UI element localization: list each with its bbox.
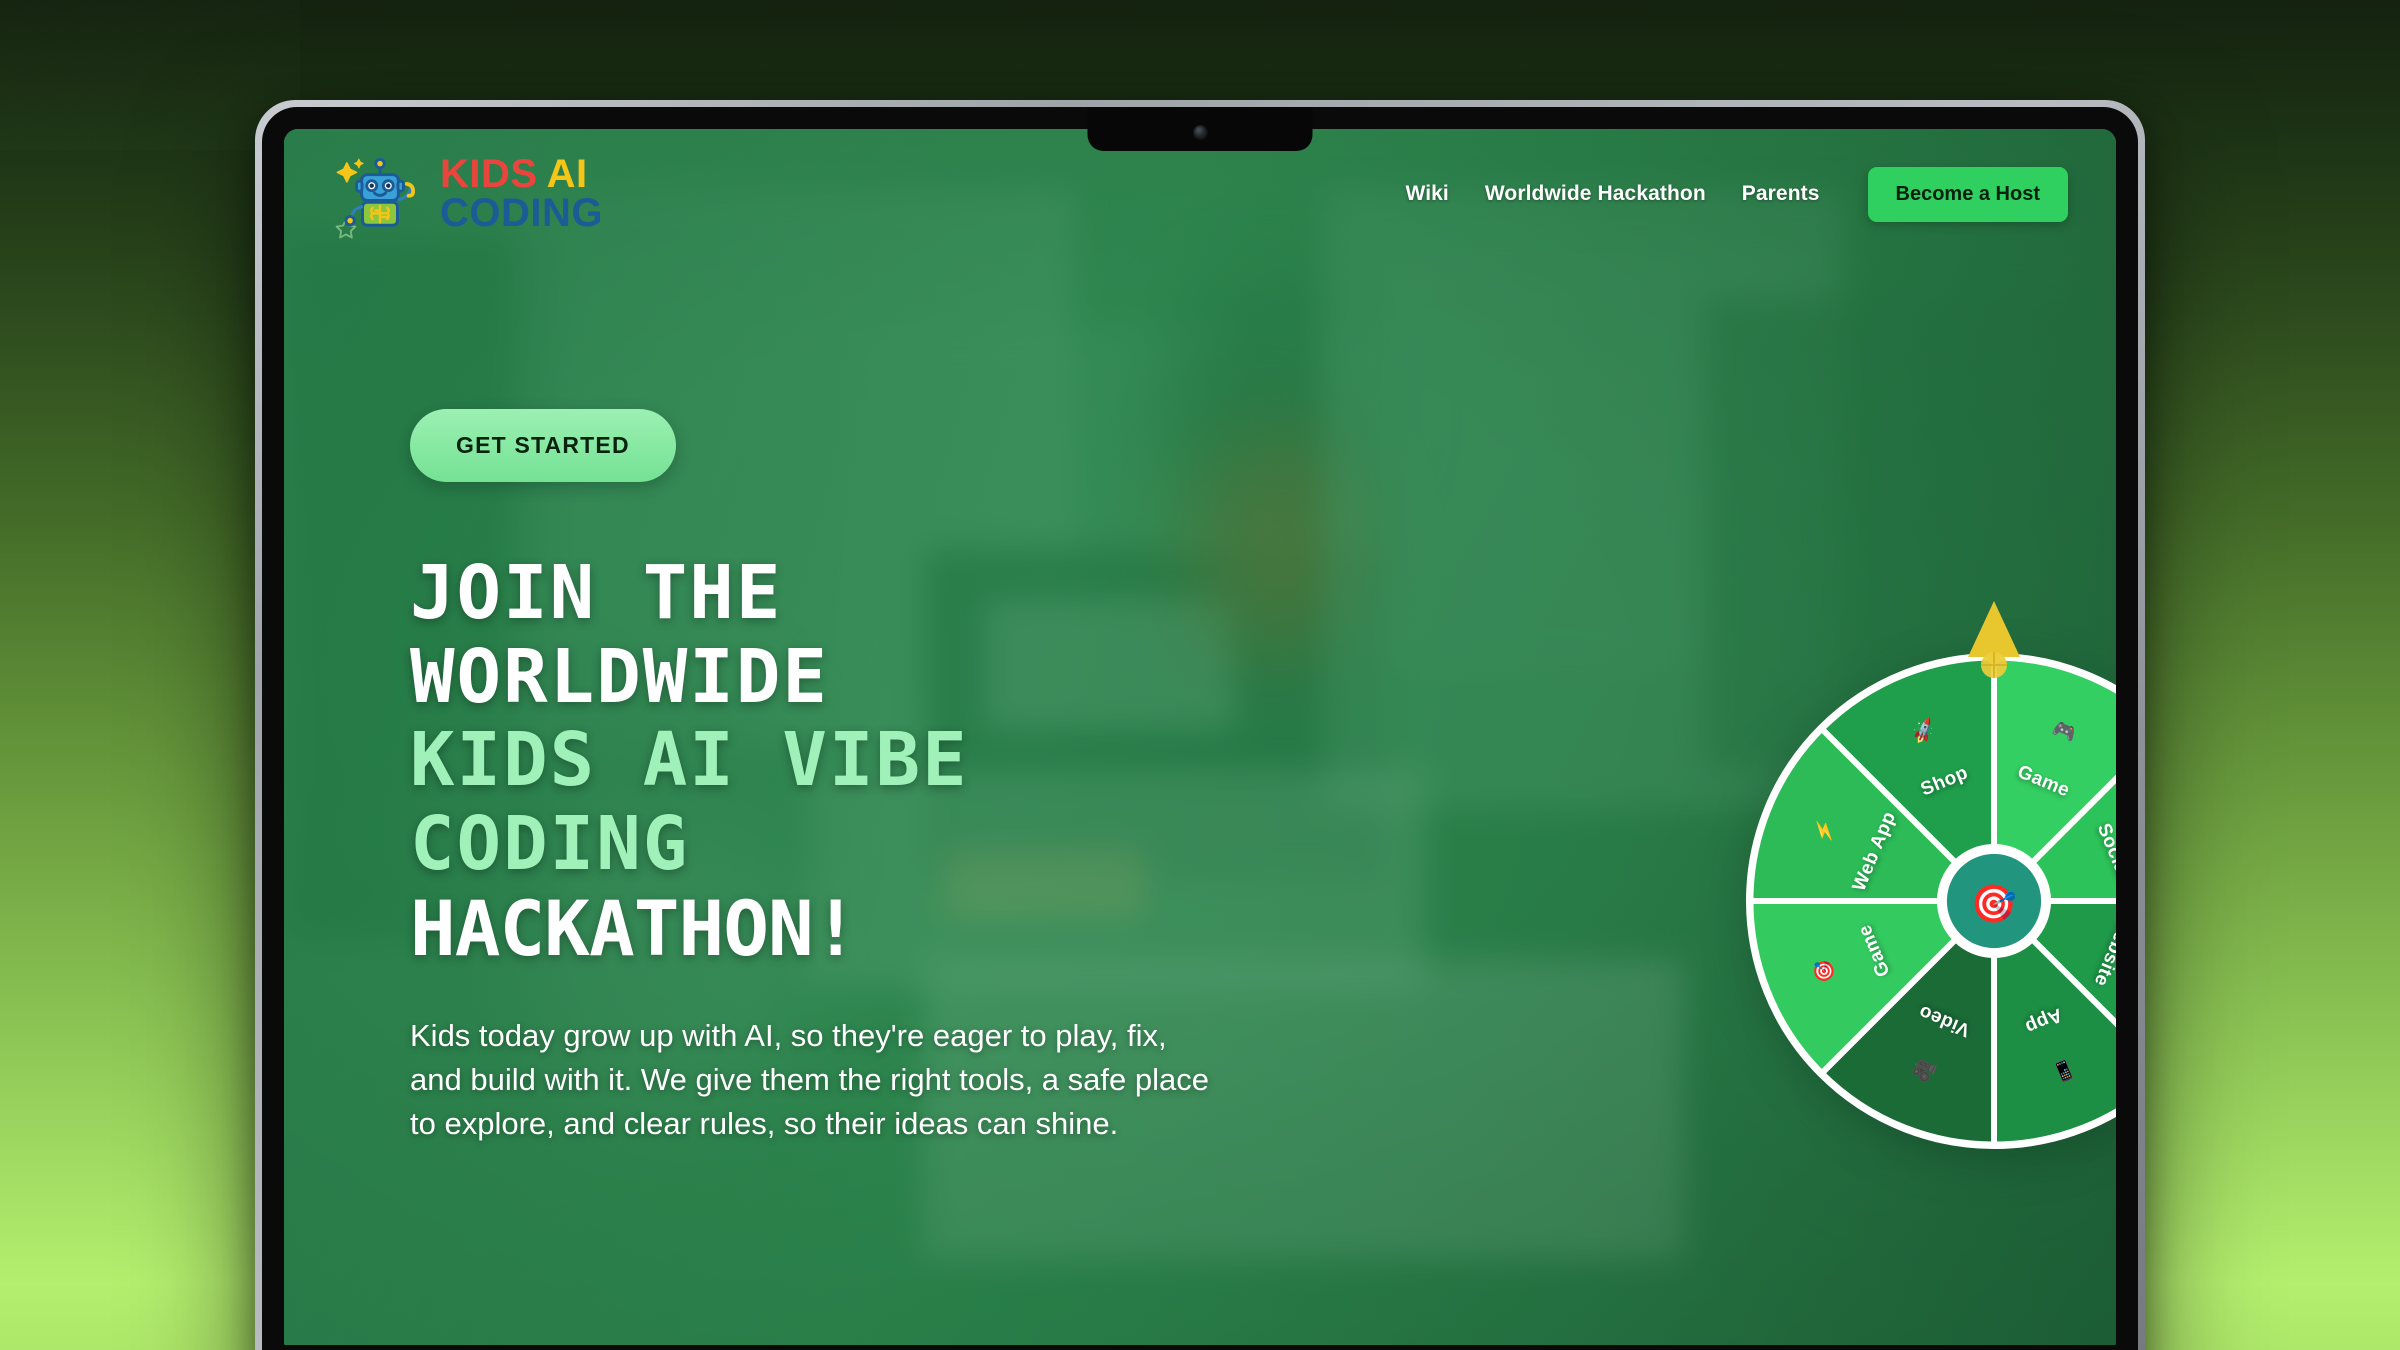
become-a-host-button[interactable]: Become a Host — [1868, 167, 2069, 222]
headline-line-5: HACKATHON! — [410, 886, 1310, 972]
background-noise-texture — [0, 0, 300, 150]
nav-link-worldwide-hackathon[interactable]: Worldwide Hackathon — [1485, 182, 1706, 206]
headline-line-3: KIDS AI VIBE — [410, 719, 1310, 803]
hero-section: GET STARTED JOIN THE WORLDWIDE KIDS AI V… — [410, 409, 1310, 1146]
spin-wheel[interactable]: 🎯 Game🎮Social💻Website🌐App📱Video🎥Game🎯Web… — [1724, 599, 2116, 1159]
nav-links: Wiki Worldwide Hackathon Parents Become … — [1405, 167, 2068, 222]
page-title: JOIN THE WORLDWIDE KIDS AI VIBE CODING H… — [410, 552, 1310, 972]
brand-logo[interactable]: KIDS AI CODING — [334, 148, 603, 240]
get-started-button[interactable]: GET STARTED — [410, 409, 676, 482]
laptop-screen: KIDS AI CODING Wiki Worldwide Hackathon … — [284, 129, 2116, 1345]
logo-text-kids: KIDS — [440, 155, 538, 194]
brand-wordmark: KIDS AI CODING — [440, 155, 603, 233]
logo-text-ai: AI — [547, 155, 588, 194]
laptop-notch — [1088, 107, 1313, 151]
wheel-hub-icon: 🎯 — [1971, 882, 2017, 924]
headline-line-2: WORLDWIDE — [410, 636, 1310, 720]
wheel-svg[interactable]: 🎯 — [1746, 653, 2116, 1149]
logo-text-coding: CODING — [440, 194, 603, 233]
webcam-icon — [1193, 125, 1208, 140]
headline-line-1: JOIN THE — [410, 552, 1310, 636]
laptop-mockup: KIDS AI CODING Wiki Worldwide Hackathon … — [255, 100, 2145, 1350]
nav-link-wiki[interactable]: Wiki — [1405, 182, 1448, 206]
laptop-bezel: KIDS AI CODING Wiki Worldwide Hackathon … — [262, 107, 2138, 1350]
nav-link-parents[interactable]: Parents — [1742, 182, 1820, 206]
hero-paragraph: Kids today grow up with AI, so they're e… — [410, 1014, 1210, 1146]
headline-line-4: CODING — [410, 803, 1310, 887]
wheel-pointer-icon — [1964, 595, 2024, 687]
robot-mascot-icon — [334, 148, 426, 240]
wheel-segments[interactable] — [1750, 657, 2116, 1146]
